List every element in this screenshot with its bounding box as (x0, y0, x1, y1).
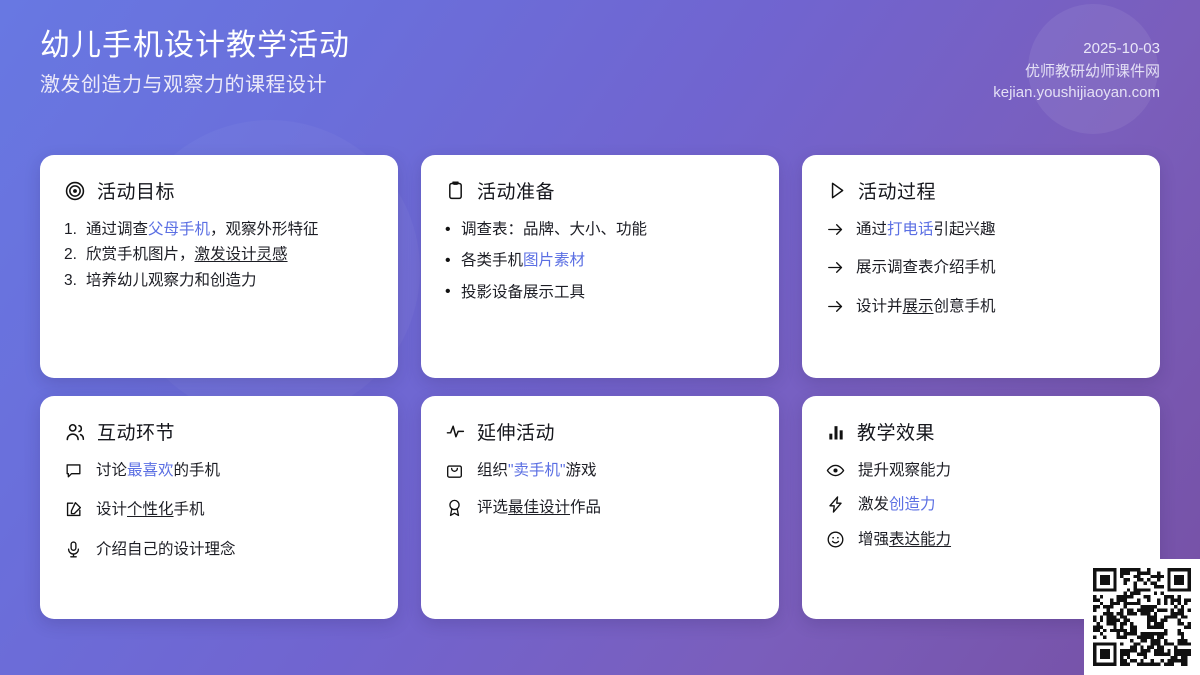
message-icon (64, 461, 96, 480)
play-triangle-icon (826, 180, 847, 201)
arrow-right-icon (826, 297, 856, 316)
list-item-text: 介绍自己的设计理念 (96, 538, 236, 561)
highlight-link[interactable]: 图片素材 (523, 252, 585, 269)
users-icon (64, 421, 86, 443)
highlight-link[interactable]: "卖手机" (508, 462, 566, 479)
list-item: 1.通过调查父母手机，观察外形特征 (64, 218, 374, 241)
text-span: 展示调查表介绍手机 (856, 259, 996, 276)
header-site-name: 优师教研幼师课件网 (993, 60, 1160, 81)
text-span: 设计 (96, 501, 127, 518)
list-item-text: 组织"卖手机"游戏 (477, 459, 597, 482)
card-title: 互动环节 (97, 418, 175, 445)
card-1: 活动目标1.通过调查父母手机，观察外形特征2.欣赏手机图片，激发设计灵感3.培养… (40, 155, 398, 378)
list-item-text: 通过调查父母手机，观察外形特征 (86, 218, 319, 241)
card-title: 活动过程 (858, 177, 936, 204)
header-left: 幼儿手机设计教学活动 激发创造力与观察力的课程设计 (40, 26, 350, 99)
eye-icon (826, 461, 858, 480)
text-span: 设计并 (856, 298, 903, 315)
text-span: 增强 (858, 531, 889, 548)
card-header: 互动环节 (64, 418, 374, 445)
list-number: 3. (64, 269, 86, 292)
list-item: 3.培养幼儿观察力和创造力 (64, 269, 374, 292)
list-item: 评选最佳设计作品 (445, 496, 755, 519)
list-item: 组织"卖手机"游戏 (445, 459, 755, 482)
text-span: 通过 (856, 221, 887, 238)
list-item-text: 展示调查表介绍手机 (856, 256, 996, 279)
target-icon (64, 180, 86, 202)
highlight-link[interactable]: 打电话 (887, 221, 934, 238)
list-item: 设计并展示创意手机 (826, 295, 1136, 318)
microphone-icon (64, 540, 96, 559)
list-item-text: 调查表：品牌、大小、功能 (461, 218, 647, 241)
card-title: 延伸活动 (477, 418, 555, 445)
card-list: 1.通过调查父母手机，观察外形特征2.欣赏手机图片，激发设计灵感3.培养幼儿观察… (64, 218, 374, 292)
card-4: 互动环节讨论最喜欢的手机设计个性化手机介绍自己的设计理念 (40, 396, 398, 619)
bullet-marker: • (445, 253, 461, 269)
text-span: 调查表：品牌、大小、功能 (461, 221, 647, 238)
smile-icon (826, 530, 858, 549)
card-2: 活动准备•调查表：品牌、大小、功能•各类手机图片素材•投影设备展示工具 (421, 155, 779, 378)
slide-header: 幼儿手机设计教学活动 激发创造力与观察力的课程设计 2025-10-03 优师教… (0, 0, 1200, 140)
bullet-marker: • (445, 284, 461, 300)
card-list: 通过打电话引起兴趣展示调查表介绍手机设计并展示创意手机 (826, 218, 1136, 318)
arrow-right-icon (826, 220, 856, 239)
award-icon (445, 498, 477, 517)
text-span: 评选 (477, 499, 508, 516)
text-span: 通过调查 (86, 221, 148, 238)
list-item-text: 设计个性化手机 (96, 498, 205, 521)
list-item: •各类手机图片素材 (445, 249, 755, 272)
text-span: 创意手机 (934, 298, 996, 315)
highlight-underline: 个性化 (127, 501, 174, 518)
text-span: 的手机 (174, 462, 221, 479)
text-span: 引起兴趣 (934, 221, 996, 238)
clipboard-icon (445, 180, 466, 201)
list-item-text: 各类手机图片素材 (461, 249, 585, 272)
highlight-underline: 表达能力 (889, 531, 951, 548)
shopping-bag-icon (445, 461, 477, 480)
list-item: •投影设备展示工具 (445, 281, 755, 304)
text-span: ，观察外形特征 (210, 221, 319, 238)
header-right: 2025-10-03 优师教研幼师课件网 kejian.youshijiaoya… (993, 26, 1160, 101)
card-title: 活动目标 (97, 177, 175, 204)
text-span: 手机 (174, 501, 205, 518)
card-grid: 活动目标1.通过调查父母手机，观察外形特征2.欣赏手机图片，激发设计灵感3.培养… (40, 155, 1160, 619)
text-span: 提升观察能力 (858, 462, 951, 479)
text-span: 激发 (858, 496, 889, 513)
text-span: 作品 (570, 499, 601, 516)
text-span: 投影设备展示工具 (461, 284, 585, 301)
highlight-link[interactable]: 最喜欢 (127, 462, 174, 479)
text-span: 培养幼儿观察力和创造力 (86, 272, 257, 289)
list-item: 提升观察能力 (826, 459, 1136, 482)
list-item-text: 通过打电话引起兴趣 (856, 218, 996, 241)
list-item-text: 投影设备展示工具 (461, 281, 585, 304)
card-5: 延伸活动组织"卖手机"游戏评选最佳设计作品 (421, 396, 779, 619)
text-span: 欣赏手机图片， (86, 246, 195, 263)
card-header: 延伸活动 (445, 418, 755, 445)
list-item: 展示调查表介绍手机 (826, 256, 1136, 279)
card-list: 组织"卖手机"游戏评选最佳设计作品 (445, 459, 755, 520)
list-item-text: 激发创造力 (858, 493, 936, 516)
zap-icon (826, 495, 858, 514)
list-item: 2.欣赏手机图片，激发设计灵感 (64, 243, 374, 266)
list-item-text: 讨论最喜欢的手机 (96, 459, 220, 482)
list-item: 激发创造力 (826, 493, 1136, 516)
text-span: 游戏 (566, 462, 597, 479)
list-item-text: 培养幼儿观察力和创造力 (86, 269, 257, 292)
card-header: 教学效果 (826, 418, 1136, 445)
list-item-text: 评选最佳设计作品 (477, 496, 601, 519)
card-list: 讨论最喜欢的手机设计个性化手机介绍自己的设计理念 (64, 459, 374, 561)
qr-code-container (1084, 559, 1200, 675)
list-item-text: 设计并展示创意手机 (856, 295, 996, 318)
list-item-text: 增强表达能力 (858, 528, 951, 551)
page-subtitle: 激发创造力与观察力的课程设计 (40, 71, 350, 99)
arrow-right-icon (826, 258, 856, 277)
card-header: 活动过程 (826, 177, 1136, 204)
page-title: 幼儿手机设计教学活动 (40, 26, 350, 67)
card-3: 活动过程通过打电话引起兴趣展示调查表介绍手机设计并展示创意手机 (802, 155, 1160, 378)
card-header: 活动目标 (64, 177, 374, 204)
list-item: 讨论最喜欢的手机 (64, 459, 374, 482)
highlight-link[interactable]: 创造力 (889, 496, 936, 513)
text-span: 讨论 (96, 462, 127, 479)
qr-code (1093, 568, 1191, 666)
list-number: 1. (64, 218, 86, 241)
card-list: 提升观察能力激发创造力增强表达能力 (826, 459, 1136, 551)
card-title: 教学效果 (857, 418, 935, 445)
list-item: 设计个性化手机 (64, 498, 374, 521)
pulse-icon (445, 421, 466, 442)
highlight-underline: 最佳设计 (508, 499, 570, 516)
bar-chart-icon (826, 422, 846, 442)
text-span: 组织 (477, 462, 508, 479)
text-span: 各类手机 (461, 252, 523, 269)
header-date: 2025-10-03 (993, 40, 1160, 57)
list-item-text: 欣赏手机图片，激发设计灵感 (86, 243, 288, 266)
highlight-link[interactable]: 父母手机 (148, 221, 210, 238)
text-span: 介绍自己的设计理念 (96, 541, 236, 558)
list-item: •调查表：品牌、大小、功能 (445, 218, 755, 241)
bullet-marker: • (445, 222, 461, 238)
list-item: 通过打电话引起兴趣 (826, 218, 1136, 241)
list-item: 介绍自己的设计理念 (64, 538, 374, 561)
highlight-underline: 激发设计灵感 (195, 246, 288, 263)
list-item-text: 提升观察能力 (858, 459, 951, 482)
card-list: •调查表：品牌、大小、功能•各类手机图片素材•投影设备展示工具 (445, 218, 755, 304)
list-item: 增强表达能力 (826, 528, 1136, 551)
edit-square-icon (64, 500, 96, 519)
list-number: 2. (64, 243, 86, 266)
card-header: 活动准备 (445, 177, 755, 204)
highlight-underline: 展示 (903, 298, 934, 315)
card-title: 活动准备 (477, 177, 555, 204)
header-site-url: kejian.youshijiaoyan.com (993, 84, 1160, 101)
